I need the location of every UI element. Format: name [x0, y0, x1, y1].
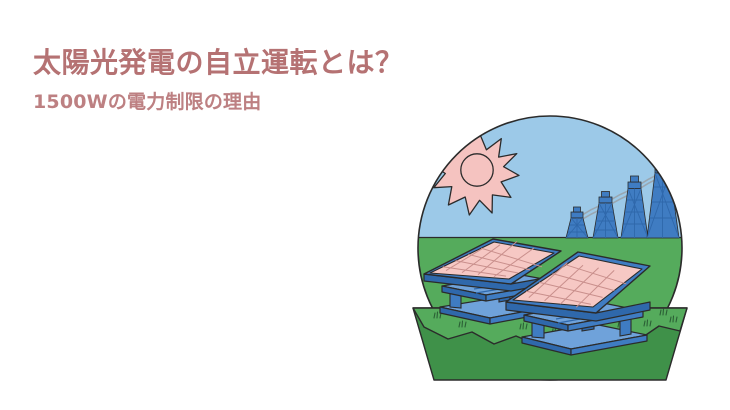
headline-block: 太陽光発電の自立運転とは？ 1500Wの電力制限の理由	[33, 46, 413, 114]
sun-core	[461, 154, 493, 186]
page-root: 太陽光発電の自立運転とは？ 1500Wの電力制限の理由	[0, 0, 730, 410]
page-subtitle: 1500Wの電力制限の理由	[33, 91, 413, 114]
solar-power-illustration	[404, 108, 696, 390]
page-title: 太陽光発電の自立運転とは？	[33, 46, 413, 79]
